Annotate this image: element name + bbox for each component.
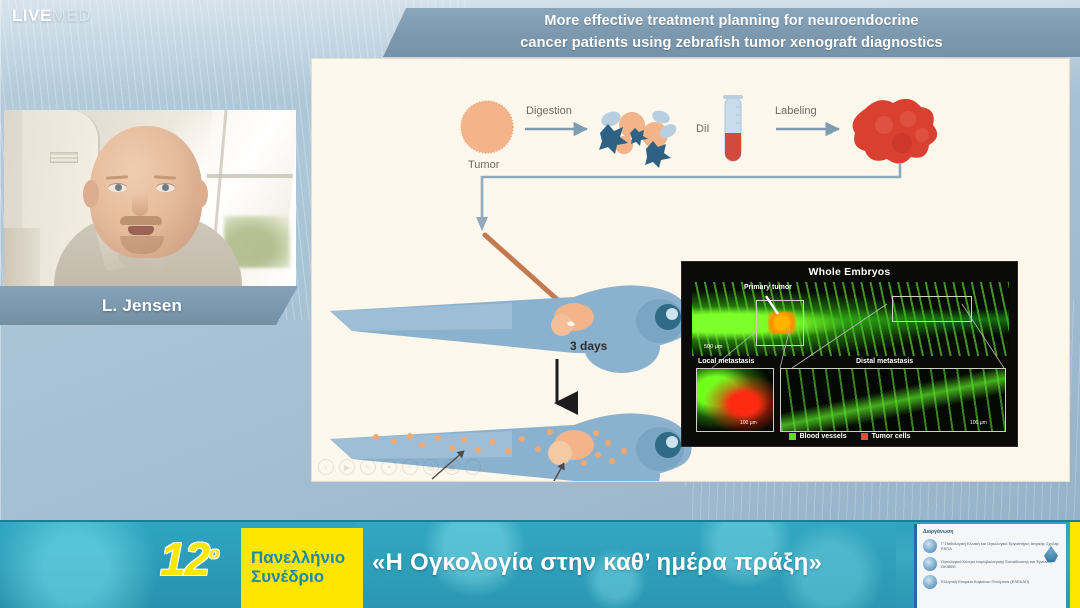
organizer-name: Ογκολογικό Κέντρο Ιατροβιολογικής Εκπαίδ… — [941, 559, 1060, 569]
congress-label-line-1: Πανελλήνιο — [251, 549, 363, 568]
organizer-name: Ελληνική Εταιρεία Καρκίνου Πνεύμονα (ΕΛΕ… — [941, 579, 1029, 584]
label-digestion: Digestion — [526, 105, 572, 117]
label-tumor: Tumor — [468, 159, 499, 171]
label-dii: DiI — [696, 123, 709, 135]
legend-item-tumor-cells: Tumor cells — [861, 433, 911, 440]
legend-label-tumor-cells: Tumor cells — [872, 433, 911, 440]
organizers-heading: Διοργάνωση — [923, 529, 1060, 535]
slide-toolbar[interactable]: ‹ ▶ ✎ ◓ ⌕ ▤ ▣ › — [318, 458, 481, 476]
dii-test-tube — [723, 95, 743, 161]
play-slide-icon[interactable]: ▶ — [339, 459, 355, 475]
presentation-title-banner: More effective treatment planning for ne… — [383, 8, 1080, 57]
organizers-panel: Διοργάνωση Γ’ Παθολογική Κλινική και Ογκ… — [914, 524, 1066, 608]
speaker-moustache — [120, 216, 162, 225]
conference-edition-number: 12o — [160, 536, 219, 582]
legend-swatch-blood-vessels — [789, 433, 796, 440]
presentation-title-line-2: cancer patients using zebrafish tumor xe… — [520, 33, 942, 54]
edition-ordinal: o — [209, 544, 218, 563]
organizer-row: Ελληνική Εταιρεία Καρκίνου Πνεύμονα (ΕΛΕ… — [923, 575, 1060, 589]
speaker-video-room-background — [4, 110, 296, 286]
pen-tool-icon[interactable]: ✎ — [360, 459, 376, 475]
conference-theme-title: «Η Ογκολογία στην καθ’ ημέρα πράξη» — [372, 549, 822, 577]
speaker-nose — [132, 194, 148, 216]
organizer-name: Γ’ Παθολογική Κλινική και Ογκολογικό Εργ… — [941, 541, 1060, 551]
speaker-video-feed[interactable] — [4, 110, 296, 286]
zebrafish-embryo-injected — [330, 285, 692, 373]
livemed-logo: LIVEMED — [12, 6, 91, 26]
micrograph-legend: Blood vessels Tumor cells — [682, 433, 1017, 440]
screen-tool-icon[interactable]: ▤ — [423, 459, 439, 475]
label-labeling: Labeling — [775, 105, 817, 117]
room-vent — [50, 152, 78, 163]
room-floor-edge — [4, 228, 40, 286]
previous-slide-icon[interactable]: ‹ — [318, 459, 334, 475]
congress-label-line-2: Συνέδριο — [251, 568, 363, 587]
labeled-tumor-cells — [853, 99, 938, 164]
scale-bar-distal: 100 μm — [970, 420, 987, 426]
speaker-name: L. Jensen — [102, 296, 196, 316]
legend-item-blood-vessels: Blood vessels — [789, 433, 847, 440]
organizer-row: Ογκολογικό Κέντρο Ιατροβιολογικής Εκπαίδ… — [923, 557, 1060, 571]
digested-cells — [599, 109, 679, 168]
speaker-ear-right — [192, 180, 208, 208]
speaker-pupil-left — [115, 184, 122, 191]
speaker-pupil-right — [162, 184, 169, 191]
micrograph-panel: Whole Embryos 500 μm Primary tumor Local… — [681, 261, 1018, 447]
next-slide-icon[interactable]: › — [465, 459, 481, 475]
presentation-stream-view: LIVEMED More effective treatment plannin… — [0, 0, 1080, 608]
scale-bar-local: 100 μm — [740, 420, 757, 426]
speaker-mouth — [128, 226, 154, 235]
highlighter-tool-icon[interactable]: ◓ — [381, 459, 397, 475]
micrograph-local-metastasis-label: Local metastasis — [698, 358, 754, 365]
legend-swatch-tumor-cells — [861, 433, 868, 440]
organizer-logo-icon — [923, 539, 937, 553]
footer-top-divider — [0, 520, 1080, 522]
label-3-days: 3 days — [570, 339, 607, 353]
presentation-title: More effective treatment planning for ne… — [506, 11, 956, 53]
presentation-title-line-1: More effective treatment planning for ne… — [520, 11, 942, 32]
speaker-name-plate: L. Jensen — [0, 286, 298, 325]
organizer-logo-icon — [923, 557, 937, 571]
logo-secondary-text: MED — [52, 6, 91, 25]
footer-right-accent-bar — [1070, 520, 1080, 608]
zoom-tool-icon[interactable]: ⌕ — [402, 459, 418, 475]
speaker-ear-left — [83, 180, 99, 208]
local-metastasis-image — [696, 368, 774, 432]
presenter-view-icon[interactable]: ▣ — [444, 459, 460, 475]
congress-label-box: Πανελλήνιο Συνέδριο — [241, 528, 363, 608]
slide-canvas[interactable]: Tumor Digestion DiI Labeling 3 days Meta… — [311, 58, 1070, 482]
logo-primary-text: LIVE — [12, 6, 52, 25]
label-metastases: Metastases — [416, 481, 472, 482]
injection-needle — [485, 235, 560, 302]
micrograph-distal-metastasis-label: Distal metastasis — [856, 358, 913, 365]
organizer-logo-icon — [923, 575, 937, 589]
legend-label-blood-vessels: Blood vessels — [800, 433, 847, 440]
edition-number-value: 12 — [160, 533, 209, 585]
organizer-row: Γ’ Παθολογική Κλινική και Ογκολογικό Εργ… — [923, 539, 1060, 553]
